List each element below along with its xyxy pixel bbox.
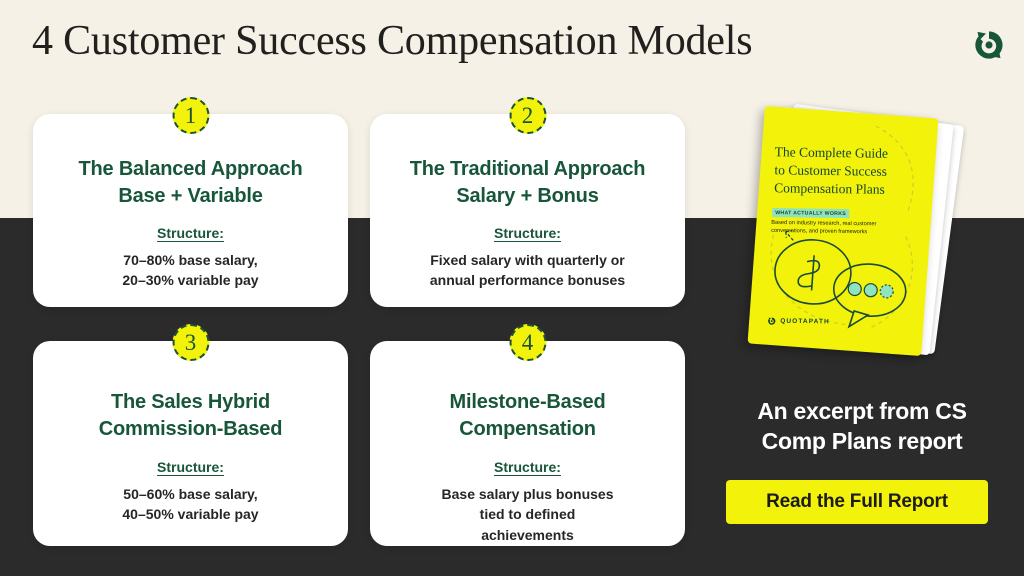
read-full-report-button[interactable]: Read the Full Report	[726, 480, 988, 524]
book-cover-brand-text: QUOTAPATH	[780, 318, 830, 326]
compensation-model-card[interactable]: 1 The Balanced Approach Base + Variable …	[33, 114, 348, 307]
cta-heading: An excerpt from CS Comp Plans report	[712, 396, 1012, 457]
structure-label: Structure:	[494, 459, 561, 475]
structure-label: Structure:	[494, 225, 561, 241]
structure-body: Fixed salary with quarterly or annual pe…	[412, 250, 643, 291]
page-title: 4 Customer Success Compensation Models	[32, 17, 752, 65]
card-number-badge: 1	[172, 97, 209, 134]
quotapath-logo-icon	[767, 317, 776, 326]
card-title: Milestone-Based Compensation	[436, 389, 620, 443]
card-title: The Balanced Approach Base + Variable	[65, 156, 317, 210]
compensation-model-card[interactable]: 4 Milestone-Based Compensation Structure…	[370, 341, 685, 546]
book-cover-kicker: WHAT ACTUALLY WORKS	[772, 208, 849, 218]
card-title: The Sales Hybrid Commission-Based	[85, 389, 297, 443]
structure-label: Structure:	[157, 225, 224, 241]
card-number-badge: 3	[172, 324, 209, 361]
structure-body: 50–60% base salary, 40–50% variable pay	[104, 484, 276, 525]
compensation-model-card[interactable]: 2 The Traditional Approach Salary + Bonu…	[370, 114, 685, 307]
compensation-model-card[interactable]: 3 The Sales Hybrid Commission-Based Stru…	[33, 341, 348, 546]
book-cover-brand: QUOTAPATH	[767, 317, 830, 327]
card-number-badge: 2	[509, 97, 546, 134]
structure-body: 70–80% base salary, 20–30% variable pay	[104, 250, 276, 291]
structure-body: Base salary plus bonuses tied to defined…	[424, 484, 632, 545]
book-cover[interactable]: The Complete Guide to Customer Success C…	[748, 106, 939, 356]
book-cover-title: The Complete Guide to Customer Success C…	[774, 143, 925, 199]
quotapath-logo-icon	[972, 28, 1006, 62]
report-book-mockup[interactable]: The Complete Guide to Customer Success C…	[742, 104, 974, 366]
card-title: The Traditional Approach Salary + Bonus	[396, 156, 660, 210]
structure-label: Structure:	[157, 459, 224, 475]
book-cover-subtitle: Based on industry research, real custome…	[771, 219, 911, 238]
card-number-badge: 4	[509, 324, 546, 361]
